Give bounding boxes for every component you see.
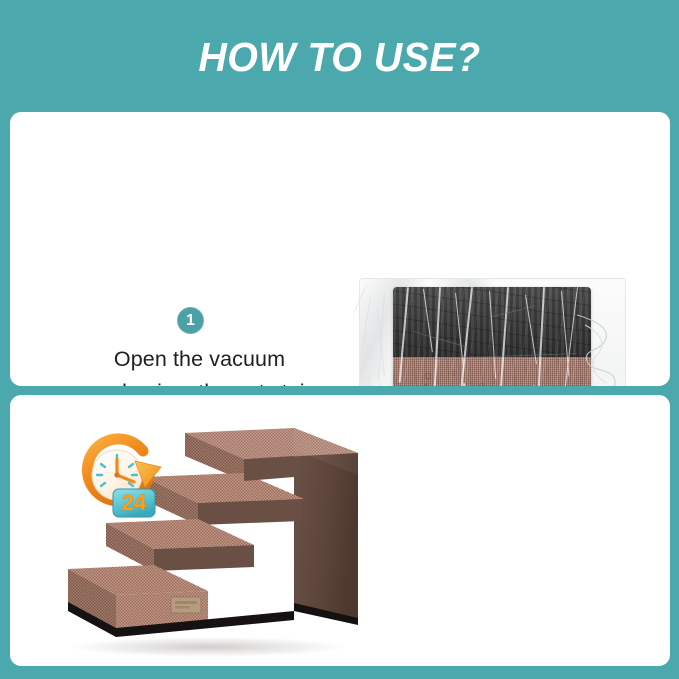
step-number-badge-1: 1 — [177, 307, 204, 334]
step-text-line: packaging, the pet stair — [58, 376, 341, 386]
how-to-use-infographic: HOW TO USE? 1 Open the vacuum packaging,… — [0, 0, 679, 679]
vacuum-sealed-packaging-photo: ▢ △ ♡ ♻ □ ○ — [360, 279, 625, 386]
24-hour-clock-icon: 24 — [73, 431, 167, 521]
step-card-1: 1 Open the vacuum packaging, the pet sta… — [10, 112, 670, 386]
step-description-1: Open the vacuum packaging, the pet stair… — [58, 343, 341, 386]
page-title: HOW TO USE? — [14, 34, 666, 81]
product-dark-top-section — [393, 287, 591, 357]
step-card-2: 24 2 Let it sit for at least 24 hours be… — [10, 395, 670, 666]
product-brown-mesh-section: ▢ △ ♡ ♻ □ ○ — [393, 357, 591, 386]
clock-badge-hours: 24 — [122, 490, 147, 515]
bag-excess-plastic — [571, 311, 623, 386]
compressed-pet-stair-product: ▢ △ ♡ ♻ □ ○ — [393, 287, 591, 386]
step-text-line: Open the vacuum — [58, 343, 341, 376]
